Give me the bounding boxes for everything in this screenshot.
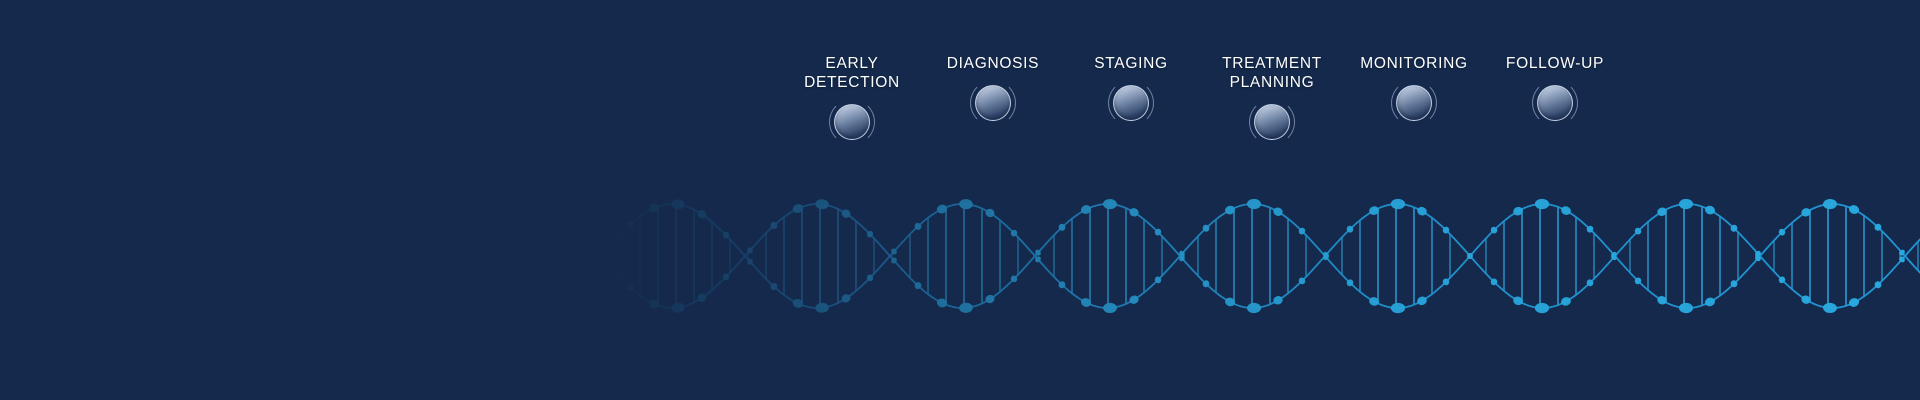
node-bead-icon (1537, 85, 1573, 121)
pathway-banner: EARLY DETECTIONDIAGNOSISSTAGINGTREATMENT… (0, 0, 1920, 400)
pathway-step-node[interactable] (829, 99, 875, 145)
pathway-step-label: FOLLOW-UP (1460, 54, 1650, 73)
pathway-step-node[interactable] (970, 80, 1016, 126)
node-bead-icon (975, 85, 1011, 121)
pathway-step-node[interactable] (1249, 99, 1295, 145)
node-bead-icon (834, 104, 870, 140)
pathway-step-node[interactable] (1532, 80, 1578, 126)
pathway-step-node[interactable] (1108, 80, 1154, 126)
node-bead-icon (1396, 85, 1432, 121)
node-bead-icon (1113, 85, 1149, 121)
pathway-step-list: EARLY DETECTIONDIAGNOSISSTAGINGTREATMENT… (0, 0, 1920, 400)
pathway-step-node[interactable] (1391, 80, 1437, 126)
node-bead-icon (1254, 104, 1290, 140)
pathway-step-follow-up[interactable]: FOLLOW-UP (1460, 54, 1650, 126)
